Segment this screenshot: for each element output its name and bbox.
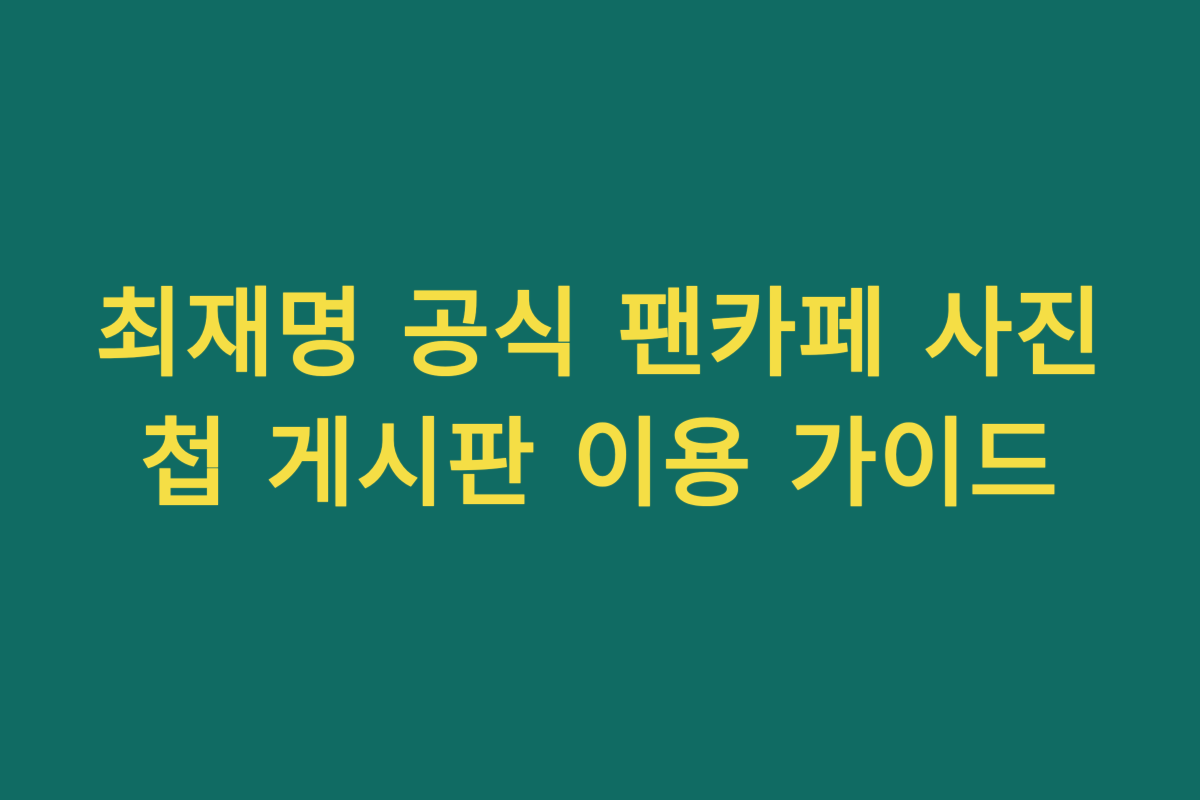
headline-line-1: 최재명 공식 팬카페 사진 [0, 269, 1200, 399]
headline-line-2: 첩 게시판 이용 가이드 [0, 399, 1200, 529]
title-card: 최재명 공식 팬카페 사진 첩 게시판 이용 가이드 [0, 0, 1200, 800]
headline-block: 최재명 공식 팬카페 사진 첩 게시판 이용 가이드 [0, 269, 1200, 529]
